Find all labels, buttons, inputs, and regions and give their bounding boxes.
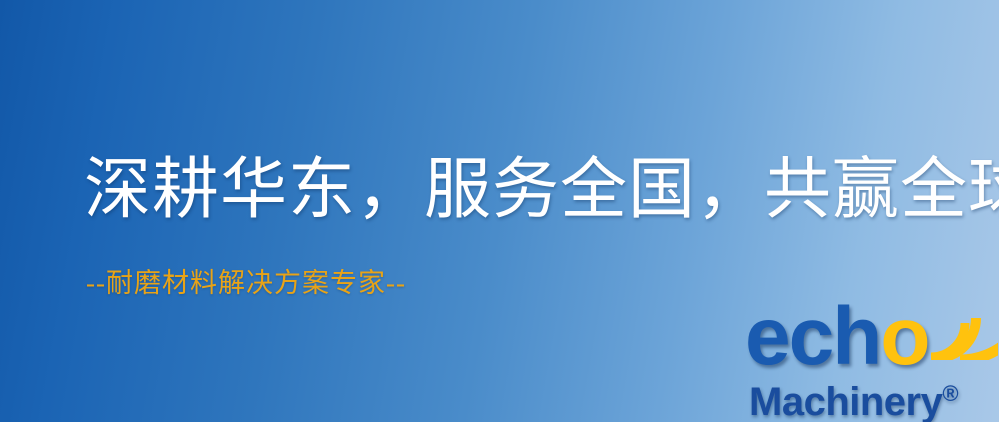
- logo-word-prefix: ech: [745, 291, 880, 382]
- registered-trademark-icon: ®: [942, 381, 958, 406]
- page-subtitle: --耐磨材料解决方案专家--: [86, 266, 406, 300]
- echo-machinery-logo[interactable]: echo: [745, 296, 999, 422]
- logo-word-o: o: [880, 291, 928, 382]
- logo-company-text: Machinery: [749, 380, 942, 422]
- logo-company-name: Machinery®: [749, 372, 959, 422]
- hero-banner: 深耕华东，服务全国，共赢全球 --耐磨材料解决方案专家-- echo: [0, 0, 999, 422]
- echo-waves-icon: [926, 294, 998, 360]
- page-title: 深耕华东，服务全国，共赢全球: [84, 150, 999, 230]
- logo-wordmark: echo: [745, 296, 928, 378]
